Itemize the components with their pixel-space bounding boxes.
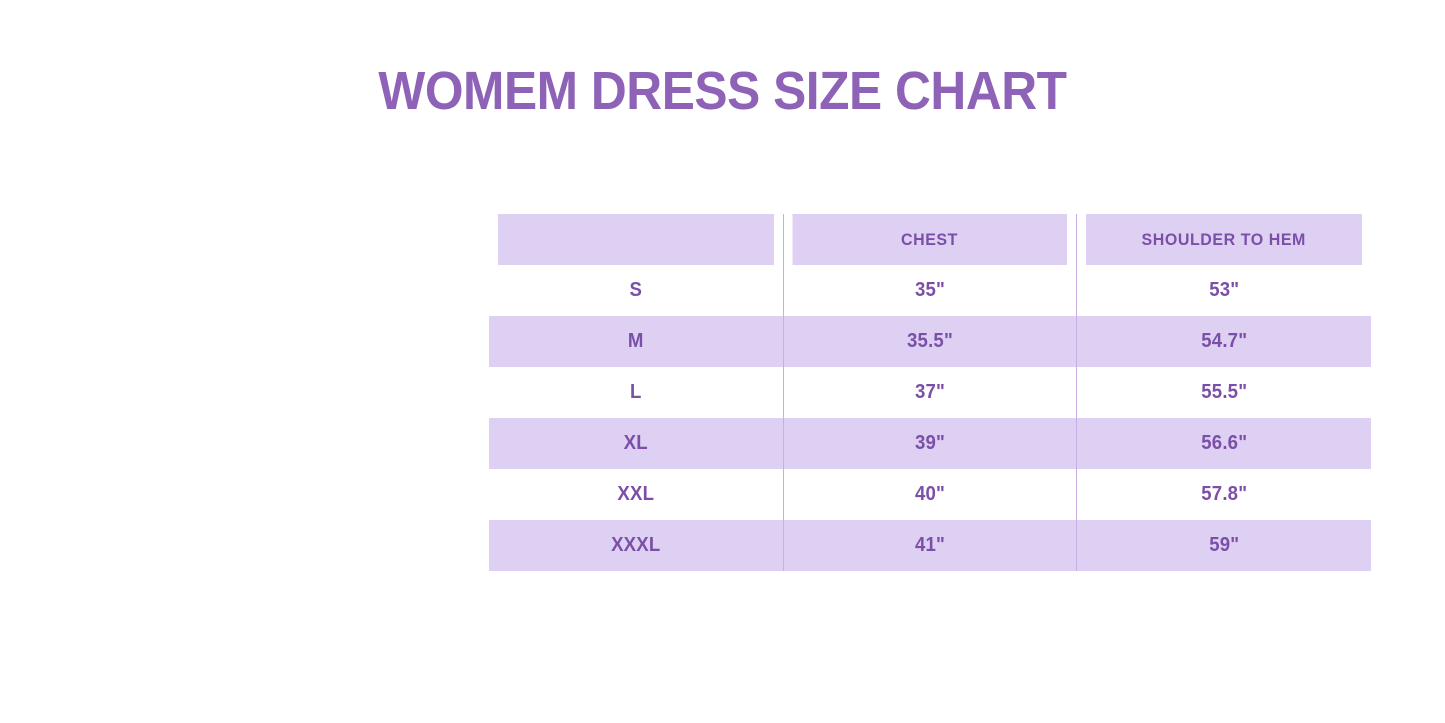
cell-shoulder-to-hem-text: 55.5" bbox=[1087, 381, 1361, 404]
cell-shoulder-to-hem-text: 56.6" bbox=[1087, 432, 1361, 455]
cell-shoulder-to-hem: 55.5" bbox=[1076, 367, 1371, 418]
cell-shoulder-to-hem: 56.6" bbox=[1076, 418, 1371, 469]
cell-shoulder-to-hem-text: 53" bbox=[1087, 279, 1361, 302]
table-row: XXL 40" 57.8" bbox=[489, 469, 1371, 520]
cell-chest: 35" bbox=[783, 265, 1076, 316]
cell-shoulder-to-hem: 53" bbox=[1076, 265, 1371, 316]
cell-chest: 40" bbox=[783, 469, 1076, 520]
cell-size-text: XXL bbox=[499, 483, 772, 506]
cell-shoulder-to-hem: 59" bbox=[1076, 520, 1371, 571]
size-chart-table: CHEST SHOULDER TO HEM S 35" 53" M 35.5" … bbox=[489, 214, 1371, 571]
table-header-row: CHEST SHOULDER TO HEM bbox=[489, 214, 1371, 265]
cell-size-text: XL bbox=[499, 432, 772, 455]
cell-chest-text: 37" bbox=[794, 381, 1066, 404]
cell-chest: 37" bbox=[783, 367, 1076, 418]
cell-shoulder-to-hem: 54.7" bbox=[1076, 316, 1371, 367]
cell-shoulder-to-hem: 57.8" bbox=[1076, 469, 1371, 520]
table-row: L 37" 55.5" bbox=[489, 367, 1371, 418]
cell-size-text: XXXL bbox=[499, 534, 772, 557]
cell-chest: 39" bbox=[783, 418, 1076, 469]
cell-size: S bbox=[489, 265, 783, 316]
cell-size: XXL bbox=[489, 469, 783, 520]
cell-shoulder-to-hem-text: 57.8" bbox=[1087, 483, 1361, 506]
cell-chest-text: 40" bbox=[794, 483, 1066, 506]
cell-size: XXXL bbox=[489, 520, 783, 571]
cell-shoulder-to-hem-text: 54.7" bbox=[1087, 330, 1361, 353]
cell-shoulder-to-hem-text: 59" bbox=[1087, 534, 1361, 557]
table-row: M 35.5" 54.7" bbox=[489, 316, 1371, 367]
cell-chest-text: 41" bbox=[794, 534, 1066, 557]
table-header: CHEST SHOULDER TO HEM bbox=[489, 214, 1371, 265]
header-cell-chest: CHEST bbox=[792, 214, 1067, 265]
header-cell-size bbox=[498, 214, 774, 265]
cell-size: M bbox=[489, 316, 783, 367]
table-row: XXXL 41" 59" bbox=[489, 520, 1371, 571]
cell-chest: 41" bbox=[783, 520, 1076, 571]
page-title: WOMEM DRESS SIZE CHART bbox=[58, 58, 1387, 124]
cell-size-text: S bbox=[499, 279, 772, 302]
cell-size-text: M bbox=[499, 330, 772, 353]
cell-chest: 35.5" bbox=[783, 316, 1076, 367]
cell-chest-text: 39" bbox=[794, 432, 1066, 455]
cell-size: L bbox=[489, 367, 783, 418]
table-body: S 35" 53" M 35.5" 54.7" L 37" 55.5" XL 3… bbox=[489, 265, 1371, 571]
cell-chest-text: 35.5" bbox=[794, 330, 1066, 353]
cell-size-text: L bbox=[499, 381, 772, 404]
cell-size: XL bbox=[489, 418, 783, 469]
cell-chest-text: 35" bbox=[794, 279, 1066, 302]
table-row: S 35" 53" bbox=[489, 265, 1371, 316]
table-row: XL 39" 56.6" bbox=[489, 418, 1371, 469]
header-cell-shoulder-to-hem: SHOULDER TO HEM bbox=[1085, 214, 1362, 265]
